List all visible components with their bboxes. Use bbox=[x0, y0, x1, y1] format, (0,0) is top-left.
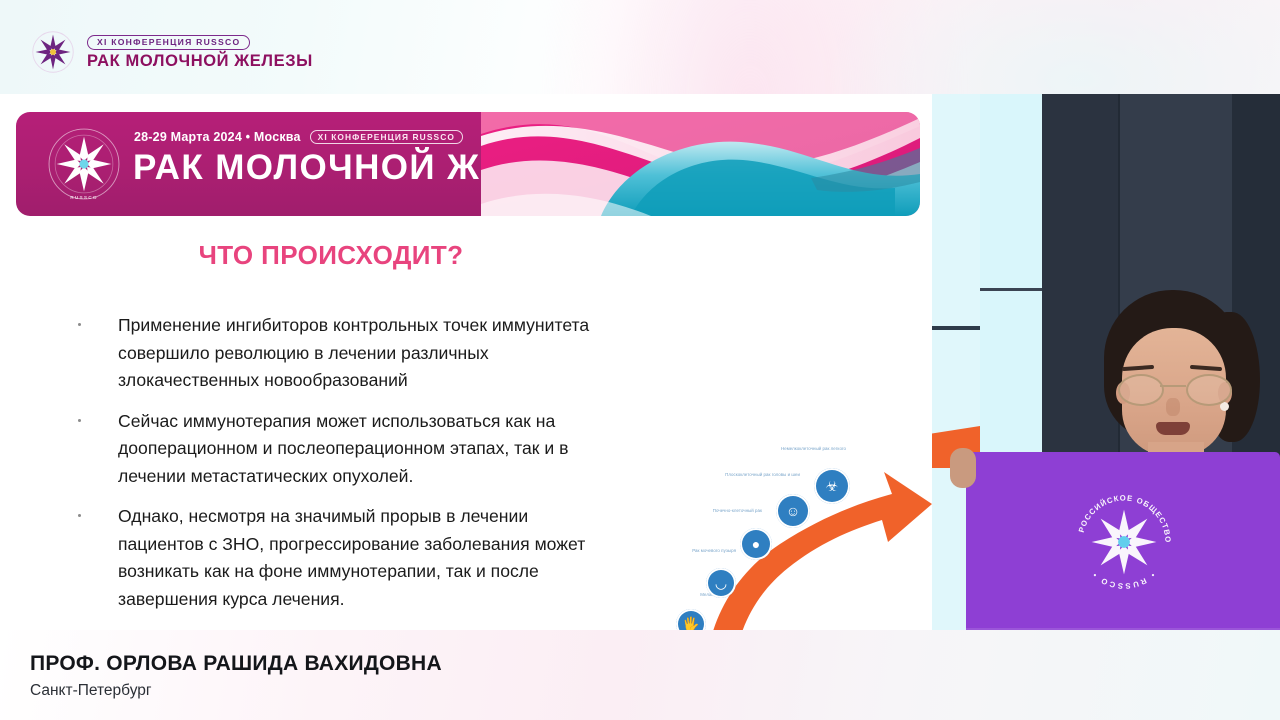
bullet-dot-icon bbox=[78, 323, 81, 326]
infographic-label: Почечно-клеточный рак bbox=[692, 508, 762, 514]
broadcast-frame: XI КОНФЕРЕНЦИЯ RUSSCO РАК МОЛОЧНОЙ ЖЕЛЕЗ… bbox=[0, 0, 1280, 720]
bullet-item: Сейчас иммунотерапия может использоватьс… bbox=[78, 408, 618, 491]
bullet-item: Однако, несмотря на значимый прорыв в ле… bbox=[78, 503, 618, 613]
top-branding-bar: XI КОНФЕРЕНЦИЯ RUSSCO РАК МОЛОЧНОЙ ЖЕЛЕЗ… bbox=[0, 0, 1280, 94]
russco-podium-logo-icon: РОССИЙСКОЕ ОБЩЕСТВО КЛИНИЧЕСКОЙ ОНКОЛОГИ… bbox=[1070, 488, 1178, 596]
video-screen-seam bbox=[980, 288, 1042, 291]
speaker-nose bbox=[1166, 398, 1180, 416]
banner-conference-pill: XI КОНФЕРЕНЦИЯ RUSSCO bbox=[310, 130, 463, 144]
speaker-city: Санкт-Петербург bbox=[30, 682, 152, 700]
slide-banner-meta: 28-29 Марта 2024 • Москва XI КОНФЕРЕНЦИЯ… bbox=[134, 130, 463, 144]
bullet-text: Однако, несмотря на значимый прорыв в ле… bbox=[118, 503, 618, 613]
russco-seal-logo-icon: RUSSCO bbox=[46, 126, 122, 202]
presentation-slide: RUSSCO 28-29 Марта 2024 • Москва XI КОНФ… bbox=[0, 94, 932, 630]
bullet-text: Сейчас иммунотерапия может использоватьс… bbox=[118, 408, 618, 491]
bullet-dot-icon bbox=[78, 514, 81, 517]
bullet-dot-icon bbox=[78, 419, 81, 422]
kidney-icon: ● bbox=[740, 528, 772, 560]
growth-infographic: Меланома 🖐 Рак мочевого пузыря ◡ Почечно… bbox=[660, 446, 932, 630]
banner-wave-graphic bbox=[481, 112, 920, 216]
bullet-item: Применение ингибиторов контрольных точек… bbox=[78, 312, 618, 395]
bullet-text: Применение ингибиторов контрольных точек… bbox=[118, 312, 618, 395]
slide-title: ЧТО ПРОИСХОДИТ? bbox=[0, 240, 932, 271]
brand-lockup: XI КОНФЕРЕНЦИЯ RUSSCO РАК МОЛОЧНОЙ ЖЕЛЕЗ… bbox=[30, 29, 313, 75]
svg-text:• RUSSCO •: • RUSSCO • bbox=[1089, 569, 1157, 590]
slide-banner: RUSSCO 28-29 Марта 2024 • Москва XI КОНФ… bbox=[16, 112, 920, 216]
glasses-lens-left bbox=[1118, 374, 1164, 406]
glasses-lens-right bbox=[1186, 374, 1232, 406]
banner-date-city: 28-29 Марта 2024 • Москва bbox=[134, 130, 301, 144]
infographic-label: Плоскоклеточный рак головы и шеи bbox=[722, 472, 800, 478]
speaker-mouth bbox=[1156, 422, 1190, 435]
svg-text:RUSSCO: RUSSCO bbox=[70, 195, 97, 200]
lungs-icon: ☣ bbox=[814, 468, 850, 504]
head-neck-icon: ☺ bbox=[776, 494, 810, 528]
slide-bullet-list: Применение ингибиторов контрольных точек… bbox=[78, 312, 618, 626]
infographic-label: Немелкоклеточный рак легкого bbox=[760, 446, 846, 452]
infographic-label: Рак мочевого пузыря bbox=[670, 548, 736, 554]
brand-title: РАК МОЛОЧНОЙ ЖЕЛЕЗЫ bbox=[87, 53, 313, 70]
speaker-name: ПРОФ. ОРЛОВА РАШИДА ВАХИДОВНА bbox=[30, 652, 442, 676]
podium: РОССИЙСКОЕ ОБЩЕСТВО КЛИНИЧЕСКОЙ ОНКОЛОГИ… bbox=[966, 452, 1280, 630]
speaker-video-panel: РОССИЙСКОЕ ОБЩЕСТВО КЛИНИЧЕСКОЙ ОНКОЛОГИ… bbox=[932, 94, 1280, 630]
conference-pill-label: XI КОНФЕРЕНЦИЯ RUSSCO bbox=[87, 35, 250, 50]
russco-star-logo-icon bbox=[30, 29, 76, 75]
video-wall-seam bbox=[932, 326, 980, 330]
brand-text-block: XI КОНФЕРЕНЦИЯ RUSSCO РАК МОЛОЧНОЙ ЖЕЛЕЗ… bbox=[87, 35, 313, 69]
glasses-bridge bbox=[1160, 385, 1186, 387]
speaker-hand bbox=[950, 448, 976, 488]
bladder-icon: ◡ bbox=[706, 568, 736, 598]
